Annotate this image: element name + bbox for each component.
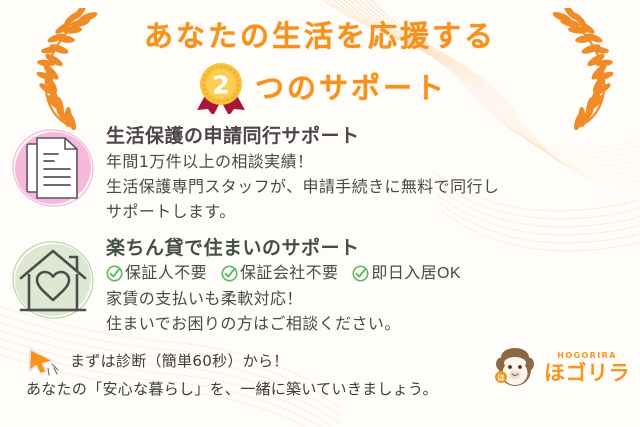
click-cursor-icon xyxy=(24,346,68,376)
footer-line-1-row: まずは診断（簡単60秒）から！ xyxy=(24,346,492,376)
support-item-1: 生活保護の申請同行サポート 年間1万件以上の相談実績！ 生活保護専門スタッフが、… xyxy=(0,118,640,224)
check-item-1-label: 保証人不要 xyxy=(125,261,207,286)
support-item-2: 楽ちん貸で住まいのサポート 保証人不要 xyxy=(0,230,640,336)
support-1-line-3: サポートします。 xyxy=(106,199,640,224)
support-1-heading: 生活保護の申請同行サポート xyxy=(106,124,640,149)
brand-logo[interactable]: ほ HOGORIRA ほゴリラ xyxy=(492,344,632,402)
check-circle-icon xyxy=(352,265,369,282)
footer: まずは診断（簡単60秒）から！ あなたの「安心な暮らし」を、一緒に築いていきまし… xyxy=(0,344,640,402)
check-item-1: 保証人不要 xyxy=(106,261,207,286)
footer-text: まずは診断（簡単60秒）から！ あなたの「安心な暮らし」を、一緒に築いていきまし… xyxy=(24,346,492,402)
documents-icon xyxy=(0,118,106,218)
support-1-body: 生活保護の申請同行サポート 年間1万件以上の相談実績！ 生活保護専門スタッフが、… xyxy=(106,118,640,224)
support-2-check-row: 保証人不要 保証会社不要 xyxy=(106,261,640,286)
medal-number: 2 xyxy=(212,71,229,100)
support-2-line-1: 家賃の支払いも柔軟対応！ xyxy=(106,286,640,311)
page-title-line1: あなたの生活を応援する xyxy=(0,16,640,56)
promo-banner: あなたの生活を応援する 2 つのサポート xyxy=(0,0,640,427)
support-1-line-2: 生活保護専門スタッフが、申請手続きに無料で同行し xyxy=(106,174,640,199)
svg-text:ほ: ほ xyxy=(498,374,505,382)
footer-line-1-text: まずは診断（簡単60秒）から！ xyxy=(70,348,289,374)
support-2-line-2: 住まいでお困りの方はご相談ください。 xyxy=(106,311,640,336)
check-item-3: 即日入居OK xyxy=(352,261,461,286)
page-title-line2-row: 2 つのサポート xyxy=(0,58,640,114)
header: あなたの生活を応援する 2 つのサポート xyxy=(0,0,640,114)
support-2-body: 楽ちん貸で住まいのサポート 保証人不要 xyxy=(106,230,640,336)
medal-ribbon-icon: 2 xyxy=(193,58,249,114)
logo-romaji: HOGORIRA xyxy=(557,351,617,360)
logo-kana: ほゴリラ xyxy=(544,361,630,385)
footer-line-2-text: あなたの「安心な暮らし」を、一緒に築いていきましょう。 xyxy=(24,376,492,402)
check-item-2: 保証会社不要 xyxy=(221,261,338,286)
check-circle-icon xyxy=(221,265,238,282)
check-item-3-label: 即日入居OK xyxy=(371,261,461,286)
gorilla-mascot-icon: ほ xyxy=(492,344,538,390)
house-heart-icon xyxy=(0,230,106,330)
check-item-2-label: 保証会社不要 xyxy=(240,261,338,286)
support-2-heading: 楽ちん貸で住まいのサポート xyxy=(106,236,640,261)
page-title-line2-text: つのサポート xyxy=(255,65,447,107)
logo-wordmark: HOGORIRA ほゴリラ xyxy=(542,347,632,387)
support-1-line-1: 年間1万件以上の相談実績！ xyxy=(106,149,640,174)
check-circle-icon xyxy=(106,265,123,282)
